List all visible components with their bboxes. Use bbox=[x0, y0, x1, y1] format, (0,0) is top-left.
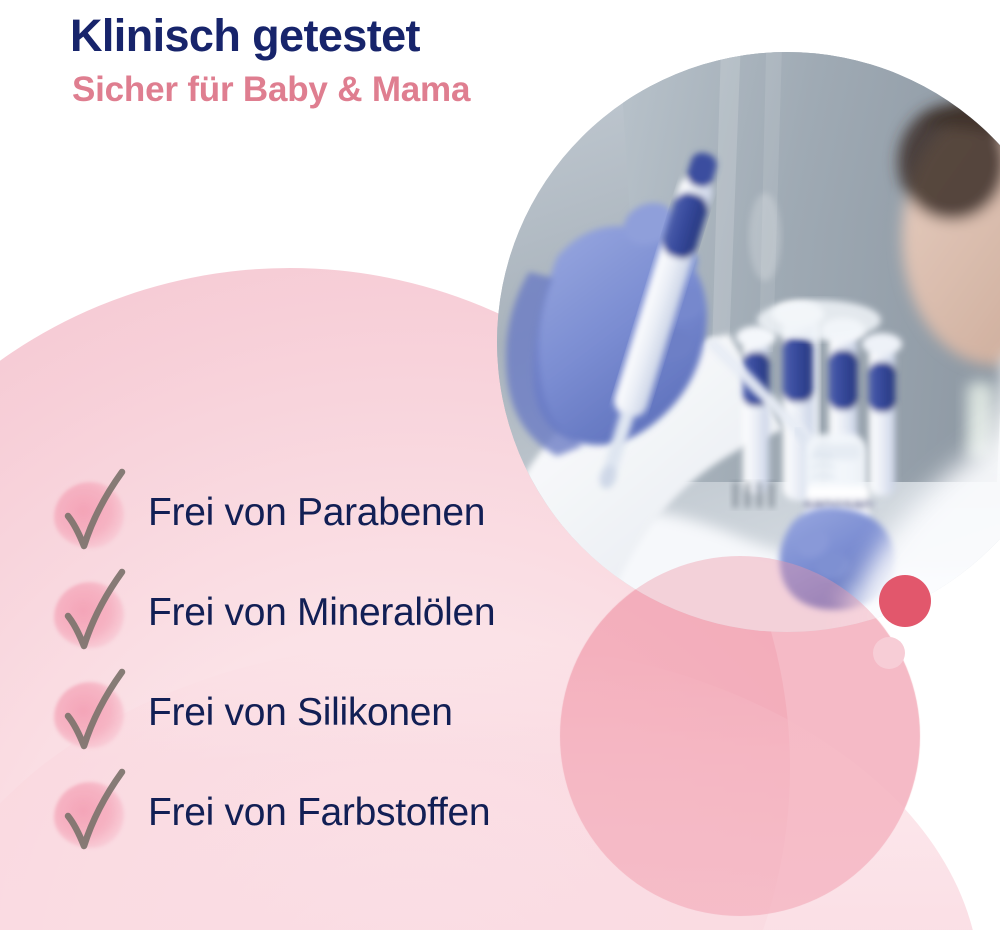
check-icon-wrap bbox=[42, 764, 148, 860]
list-item: Frei von Farbstoffen bbox=[42, 762, 602, 862]
page-title: Klinisch getestet bbox=[0, 0, 600, 60]
list-item: Frei von Mineralölen bbox=[42, 562, 602, 662]
check-icon bbox=[42, 664, 148, 760]
headline-block: Klinisch getestet Sicher für Baby & Mama bbox=[0, 0, 600, 108]
page-subtitle: Sicher für Baby & Mama bbox=[0, 60, 600, 108]
list-item: Frei von Parabenen bbox=[42, 462, 602, 562]
check-icon-wrap bbox=[42, 564, 148, 660]
promo-poster: sanosan Klini bbox=[0, 0, 1000, 930]
benefit-list: Frei von Parabenen Frei von Mineralölen … bbox=[42, 462, 602, 862]
benefit-label: Frei von Farbstoffen bbox=[148, 793, 490, 832]
benefit-label: Frei von Silikonen bbox=[148, 693, 453, 732]
check-icon bbox=[42, 764, 148, 860]
check-icon bbox=[42, 464, 148, 560]
benefit-label: Frei von Parabenen bbox=[148, 493, 485, 532]
check-icon bbox=[42, 564, 148, 660]
list-item: Frei von Silikonen bbox=[42, 662, 602, 762]
check-icon-wrap bbox=[42, 464, 148, 560]
benefit-label: Frei von Mineralölen bbox=[148, 593, 495, 632]
accent-dot-pale bbox=[873, 637, 905, 669]
check-icon-wrap bbox=[42, 664, 148, 760]
